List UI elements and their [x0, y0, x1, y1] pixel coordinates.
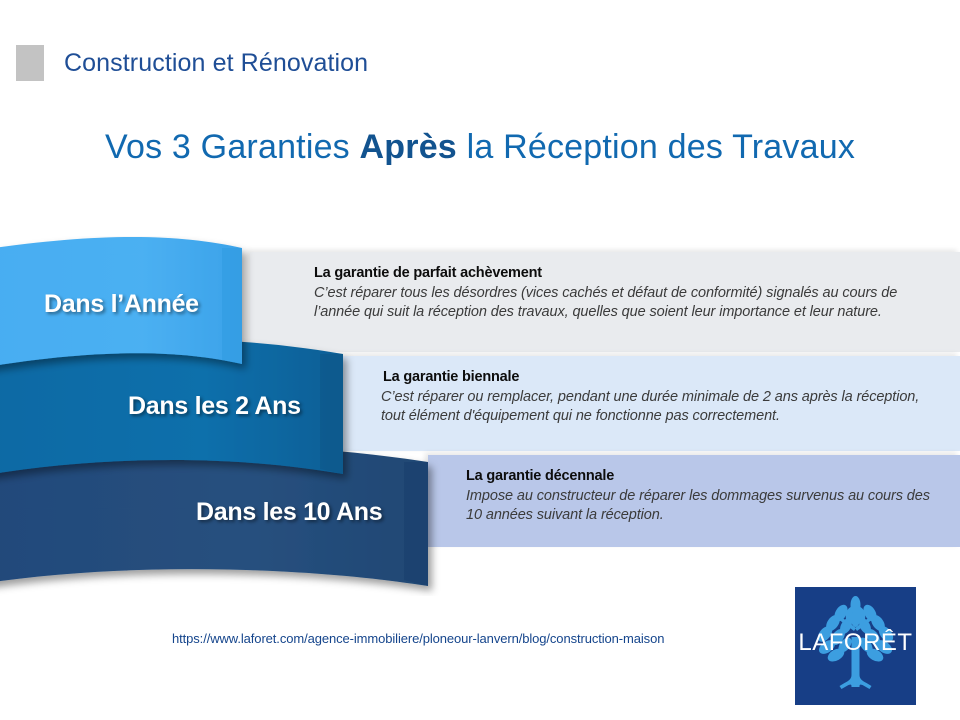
page-title-part-1: Vos 3 Garanties — [105, 128, 360, 166]
ribbon-label-1: Dans l’Année — [44, 290, 199, 319]
guarantee-body-3: Impose au constructeur de réparer les do… — [446, 487, 942, 525]
slide-root: Construction et Rénovation Vos 3 Garanti… — [0, 0, 960, 720]
header-title: Construction et Rénovation — [64, 49, 368, 78]
ribbon-label-3: Dans les 10 Ans — [196, 498, 382, 527]
laforet-logo: LAFORÊT — [795, 587, 916, 705]
logo-wordmark: LAFORÊT — [798, 629, 912, 656]
source-url[interactable]: https://www.laforet.com/agence-immobilie… — [172, 631, 664, 646]
guarantee-heading-3: La garantie décennale — [446, 467, 942, 485]
header: Construction et Rénovation — [16, 45, 368, 81]
ribbon-label-2: Dans les 2 Ans — [128, 392, 301, 421]
page-title-part-2: la Réception des Travaux — [457, 128, 855, 166]
page-title-emphasis: Après — [360, 128, 457, 166]
header-accent-square — [16, 45, 44, 81]
page-title: Vos 3 Garanties Après la Réception des T… — [0, 128, 960, 167]
